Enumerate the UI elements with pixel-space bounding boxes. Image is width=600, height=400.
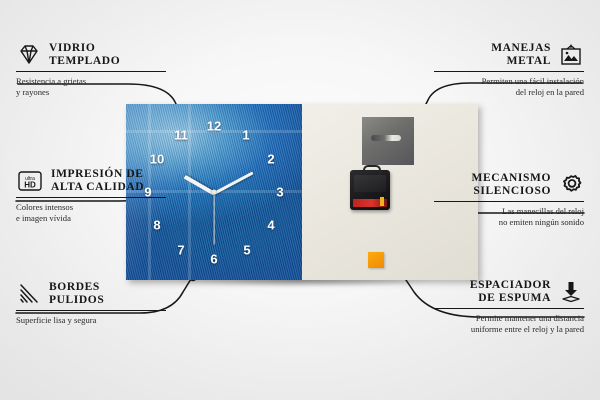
gear-icon	[558, 173, 584, 197]
callout-description: Permite mantener una distancia uniforme …	[434, 313, 584, 334]
callout-header: VIDRIO TEMPLADO	[16, 42, 166, 68]
callout-mecanismo-silencioso[interactable]: MECANISMO SILENCIOSO Las manecillas del …	[434, 172, 584, 227]
callout-impresion-alta-calidad[interactable]: ultra HD IMPRESIÓN DE ALTA CALIDAD Color…	[16, 168, 166, 223]
callout-header: MECANISMO SILENCIOSO	[434, 172, 584, 198]
callout-title: MANEJAS METAL	[491, 42, 551, 68]
callout-title: BORDES PULIDOS	[49, 281, 104, 307]
callout-rule	[434, 308, 584, 309]
wall-picture-icon	[558, 43, 584, 67]
clock-numeral-1: 1	[242, 128, 249, 143]
callout-vidrio-templado[interactable]: VIDRIO TEMPLADO Resistencia a grietas y …	[16, 42, 166, 97]
callout-bordes-pulidos[interactable]: BORDES PULIDOS Superficie lisa y segura	[16, 281, 166, 326]
callout-rule	[434, 71, 584, 72]
movement-hook	[363, 165, 381, 175]
callout-rule	[434, 201, 584, 202]
hanger-slot	[371, 135, 401, 141]
down-arrow-layers-icon	[558, 280, 584, 304]
ultra-hd-icon-bottom-text: HD	[24, 181, 36, 190]
polished-edge-icon	[16, 282, 42, 306]
clock-second-hand	[213, 193, 214, 245]
callout-manejas-metal[interactable]: MANEJAS METAL Permiten una fácil instala…	[434, 42, 584, 97]
callout-description: Permiten una fácil instalación del reloj…	[434, 76, 584, 97]
clock-numeral-2: 2	[267, 152, 274, 167]
callout-description: Las manecillas del reloj no emiten ningú…	[434, 206, 584, 227]
callout-header: ESPACIADOR DE ESPUMA	[434, 279, 584, 305]
infographic-canvas: 12 1 2 3 4 5 6 7 8 9 10 11	[0, 0, 600, 400]
product-image: 12 1 2 3 4 5 6 7 8 9 10 11	[126, 104, 478, 280]
clock-numeral-12: 12	[207, 119, 221, 134]
callout-rule	[16, 71, 166, 72]
clock-numeral-4: 4	[267, 218, 274, 233]
callout-description: Resistencia a grietas y rayones	[16, 76, 166, 97]
metal-hanger-plate	[362, 117, 414, 165]
callout-title: MECANISMO SILENCIOSO	[471, 172, 551, 198]
callout-rule	[16, 310, 166, 311]
diamond-icon	[16, 43, 42, 67]
callout-rule	[16, 197, 166, 198]
clock-numeral-5: 5	[243, 243, 250, 258]
callout-title: ESPACIADOR DE ESPUMA	[470, 279, 551, 305]
callout-description: Superficie lisa y segura	[16, 315, 166, 326]
clock-numeral-10: 10	[150, 152, 164, 167]
movement-body	[354, 175, 386, 192]
clock-center-cap	[212, 190, 217, 195]
foam-spacer	[368, 252, 384, 268]
callout-description: Colores intensos e imagen vívida	[16, 202, 166, 223]
callout-title: IMPRESIÓN DE ALTA CALIDAD	[51, 168, 144, 194]
quartz-movement	[350, 170, 390, 210]
callout-header: ultra HD IMPRESIÓN DE ALTA CALIDAD	[16, 168, 166, 194]
clock-numeral-11: 11	[174, 128, 188, 143]
callout-espaciador-espuma[interactable]: ESPACIADOR DE ESPUMA Permite mantener un…	[434, 279, 584, 334]
callout-title: VIDRIO TEMPLADO	[49, 42, 120, 68]
callout-header: MANEJAS METAL	[434, 42, 584, 68]
battery-label	[353, 199, 387, 207]
ultra-hd-icon: ultra HD	[16, 169, 44, 193]
clock-numeral-7: 7	[177, 243, 184, 258]
callout-header: BORDES PULIDOS	[16, 281, 166, 307]
clock-numeral-6: 6	[210, 252, 217, 267]
clock-numeral-3: 3	[276, 185, 283, 200]
